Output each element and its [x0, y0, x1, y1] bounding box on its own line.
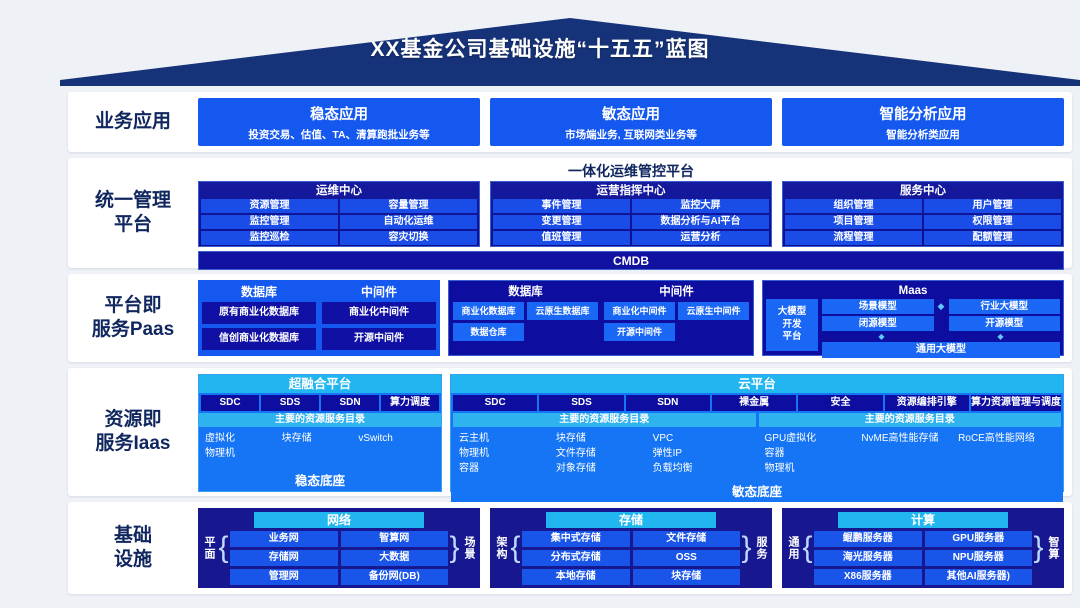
paas-cn-grid: 商业化数据库 云原生数据库 数据仓库 [453, 302, 598, 341]
tech-sds[interactable]: SDS [261, 395, 319, 411]
hyperconverged-platform-title: 超融合平台 [199, 375, 441, 393]
paas-cn-middleware-column: 中间件 商业化中间件 云原生中间件 开源中间件 [604, 285, 749, 351]
paas-item[interactable]: 开源中间件 [604, 323, 675, 341]
blueprint-diagram: XX基金公司基础设施“十五五”蓝图 业务应用 稳态应用 投资交易、估值、TA、清… [0, 0, 1080, 608]
infra-left-label: 通用 [785, 536, 801, 560]
center-operations-command[interactable]: 运营指挥中心 事件管理 监控大屏 变更管理 数据分析与AI平台 值班管理 运营分… [490, 181, 772, 247]
arrow-up-icon: ◆ [941, 333, 1060, 340]
maas-model-dev-platform[interactable]: 大模型 开发 平台 [766, 299, 818, 351]
infra-item[interactable]: 智算网 [341, 531, 449, 547]
center-item[interactable]: 流程管理 [785, 231, 922, 245]
agile-foundation-footer: 敏态底座 [451, 482, 1063, 502]
row-body-paas: 数据库 原有商业化数据库 信创商业化数据库 中间件 商业化中间件 开源中间件 数… [198, 274, 1072, 362]
paas-item[interactable]: 商业化中间件 [322, 302, 436, 324]
cloud-catalog-panes: 主要的资源服务目录 云主机 物理机 容器 块存储 文件存储 [451, 413, 1063, 482]
infra-card-network: 平面 { 网络 业务网 智算网 存储网 大数据 管理网 备份网(DB) [198, 508, 480, 588]
infra-item[interactable]: X86服务器 [814, 569, 922, 585]
paas-cn-database-column: 数据库 商业化数据库 云原生数据库 数据仓库 [453, 285, 598, 351]
paas-cloudnative-block: 数据库 商业化数据库 云原生数据库 数据仓库 中间件 商业化中间件 云原生中间件 [448, 280, 754, 356]
maas-item-industry-model[interactable]: 行业大模型 [949, 299, 1061, 314]
application-card-strip: 稳态应用 投资交易、估值、TA、清算跑批业务等 敏态应用 市场端业务, 互联网类… [198, 98, 1064, 146]
management-centers: 运维中心 资源管理 容量管理 监控管理 自动化运维 监控巡检 容灾切换 运营指挥… [198, 181, 1064, 247]
catalog-column: RoCE高性能网络 [958, 431, 1055, 476]
infra-item[interactable]: NPU服务器 [925, 550, 1033, 566]
maas-item-scenario-model[interactable]: 场景模型 [822, 299, 934, 314]
catalog-column: 虚拟化 物理机 [205, 431, 282, 467]
infra-item-grid: 鲲鹏服务器 GPU服务器 海光服务器 NPU服务器 X86服务器 其他AI服务器… [814, 531, 1032, 585]
paas-middleware-column: 中间件 商业化中间件 开源中间件 [322, 284, 436, 352]
infra-item[interactable]: 备份网(DB) [341, 569, 449, 585]
row-body-unified-management-platform: 一体化运维管控平台 运维中心 资源管理 容量管理 监控管理 自动化运维 监控巡检… [198, 158, 1072, 268]
paas-database-column: 数据库 原有商业化数据库 信创商业化数据库 [202, 284, 316, 352]
center-item[interactable]: 资源管理 [201, 199, 338, 213]
cloud-catalog-left: 主要的资源服务目录 云主机 物理机 容器 块存储 文件存储 [453, 413, 756, 480]
infra-item[interactable]: 本地存储 [522, 569, 630, 585]
tech-sds[interactable]: SDS [539, 395, 623, 411]
paas-traditional-block: 数据库 原有商业化数据库 信创商业化数据库 中间件 商业化中间件 开源中间件 [198, 280, 440, 356]
resource-catalog-body: 虚拟化 物理机 块存储 vSwitch [199, 427, 441, 471]
tech-compute-scheduling[interactable]: 算力调度 [381, 395, 439, 411]
infra-item[interactable]: 海光服务器 [814, 550, 922, 566]
infra-item-grid: 业务网 智算网 存储网 大数据 管理网 备份网(DB) [230, 531, 448, 585]
center-item[interactable]: 容灾切换 [340, 231, 477, 245]
tech-compute-resource-mgmt[interactable]: 算力资源管理与调度 [971, 395, 1061, 411]
app-card-subtitle: 智能分析类应用 [886, 127, 960, 142]
row-label-paas: 平台即 服务Paas [68, 294, 198, 342]
infra-item[interactable]: 块存储 [633, 569, 741, 585]
resource-catalog-header: 主要的资源服务目录 [199, 413, 441, 427]
cmdb-bar[interactable]: CMDB [198, 251, 1064, 270]
catalog-column: GPU虚拟化 容器 物理机 [765, 431, 862, 476]
cloud-platform-title: 云平台 [451, 375, 1063, 393]
center-item[interactable]: 用户管理 [924, 199, 1061, 213]
integrated-ops-platform-title: 一体化运维管控平台 [198, 164, 1064, 181]
catalog-column: NvME高性能存储 [861, 431, 958, 476]
infra-item[interactable]: 大数据 [341, 550, 449, 566]
hyperconverged-tech-row: SDC SDS SDN 算力调度 [199, 393, 441, 413]
cloud-tech-row: SDC SDS SDN 裸金属 安全 资源编排引擎 算力资源管理与调度 [451, 393, 1063, 413]
brace-left-icon: { [509, 533, 522, 563]
infra-item[interactable]: 鲲鹏服务器 [814, 531, 922, 547]
infra-item[interactable]: 文件存储 [633, 531, 741, 547]
app-card-subtitle: 投资交易、估值、TA、清算跑批业务等 [248, 127, 429, 142]
maas-row-scenario: 场景模型 ◆ 行业大模型 [822, 299, 1060, 314]
paas-column-title: 数据库 [453, 285, 598, 302]
catalog-item: 容器 [459, 461, 556, 476]
center-item[interactable]: 数据分析与AI平台 [632, 215, 769, 229]
iaas-hyperconverged-block: 超融合平台 SDC SDS SDN 算力调度 主要的资源服务目录 虚拟化 物理机 [198, 374, 442, 492]
catalog-item: 虚拟化 [205, 431, 282, 446]
maas-body: 大模型 开发 平台 场景模型 ◆ 行业大模型 闭源模型 开源模型 [766, 299, 1060, 351]
maas-item-general-model[interactable]: 通用大模型 [822, 342, 1060, 358]
center-ops[interactable]: 运维中心 资源管理 容量管理 监控管理 自动化运维 监控巡检 容灾切换 [198, 181, 480, 247]
infra-card-storage: 架构 { 存储 集中式存储 文件存储 分布式存储 OSS 本地存储 块存储 [490, 508, 772, 588]
center-title: 服务中心 [785, 184, 1061, 199]
infra-right-label: 场景 [461, 536, 477, 560]
catalog-item: NvME高性能存储 [861, 431, 958, 446]
row-label-infrastructure: 基础 设施 [68, 524, 198, 572]
infra-compute-content: 计算 鲲鹏服务器 GPU服务器 海光服务器 NPU服务器 X86服务器 其他AI… [814, 512, 1032, 585]
infra-item[interactable]: 分布式存储 [522, 550, 630, 566]
infra-storage-content: 存储 集中式存储 文件存储 分布式存储 OSS 本地存储 块存储 [522, 512, 740, 585]
paas-item[interactable]: 商业化数据库 [453, 302, 524, 320]
catalog-item: 块存储 [282, 431, 359, 446]
paas-item[interactable]: 数据仓库 [453, 323, 524, 341]
page-title: XX基金公司基础设施“十五五”蓝图 [0, 33, 1080, 63]
app-card-title: 智能分析应用 [880, 103, 967, 124]
row-platform-as-a-service: 平台即 服务Paas 数据库 原有商业化数据库 信创商业化数据库 中间件 商业化… [68, 274, 1072, 362]
infra-item[interactable]: 集中式存储 [522, 531, 630, 547]
tech-sdc[interactable]: SDC [201, 395, 259, 411]
infra-item[interactable]: 存储网 [230, 550, 338, 566]
row-unified-management-platform: 统一管理 平台 一体化运维管控平台 运维中心 资源管理 容量管理 监控管理 自动… [68, 158, 1072, 268]
brace-right-icon: } [448, 533, 461, 563]
catalog-item: 文件存储 [556, 446, 653, 461]
arrow-right-icon: ◆ [937, 299, 946, 314]
catalog-item: 物理机 [459, 446, 556, 461]
paas-item[interactable]: 商业化中间件 [604, 302, 675, 320]
brace-left-icon: { [801, 533, 814, 563]
paas-item-empty [678, 323, 749, 341]
maas-arrow-row: ◆ ◆ [822, 333, 1060, 340]
infra-left-label: 平面 [201, 536, 217, 560]
app-card-intelligent-analysis[interactable]: 智能分析应用 智能分析类应用 [782, 98, 1064, 146]
catalog-item: 块存储 [556, 431, 653, 446]
center-item-grid: 资源管理 容量管理 监控管理 自动化运维 监控巡检 容灾切换 [201, 199, 477, 245]
infra-title: 存储 [546, 512, 716, 528]
catalog-column: vSwitch [358, 431, 435, 467]
tech-orchestration-engine[interactable]: 资源编排引擎 [885, 395, 969, 411]
center-item[interactable]: 变更管理 [493, 215, 630, 229]
paas-item[interactable]: 云原生数据库 [527, 302, 598, 320]
infra-right-label: 智算 [1045, 536, 1061, 560]
paas-column-title: 数据库 [202, 284, 316, 302]
row-body-infrastructure: 平面 { 网络 业务网 智算网 存储网 大数据 管理网 备份网(DB) [198, 502, 1072, 594]
iaas-strip: 超融合平台 SDC SDS SDN 算力调度 主要的资源服务目录 虚拟化 物理机 [198, 374, 1064, 492]
stable-foundation-footer: 稳态底座 [199, 471, 441, 491]
cloud-catalog-right: 主要的资源服务目录 GPU虚拟化 容器 物理机 NvME高性能存储 [759, 413, 1062, 480]
row-label-business-application: 业务应用 [68, 110, 198, 134]
row-infrastructure: 基础 设施 平面 { 网络 业务网 智算网 存储网 大数据 管理网 备份网( [68, 502, 1072, 594]
center-item[interactable]: 权限管理 [924, 215, 1061, 229]
paas-column-title: 中间件 [322, 284, 436, 302]
catalog-item: 物理机 [205, 446, 282, 461]
catalog-item: RoCE高性能网络 [958, 431, 1055, 446]
paas-item[interactable]: 原有商业化数据库 [202, 302, 316, 324]
center-item-grid: 事件管理 监控大屏 变更管理 数据分析与AI平台 值班管理 运营分析 [493, 199, 769, 245]
paas-item[interactable]: 信创商业化数据库 [202, 328, 316, 350]
brace-left-icon: { [217, 533, 230, 563]
tech-sdc[interactable]: SDC [453, 395, 537, 411]
catalog-item: 弹性IP [653, 446, 750, 461]
app-card-agile[interactable]: 敏态应用 市场端业务, 互联网类业务等 [490, 98, 772, 146]
brace-right-icon: } [740, 533, 753, 563]
infra-title: 计算 [838, 512, 1008, 528]
center-item[interactable]: 监控大屏 [632, 199, 769, 213]
catalog-item: 云主机 [459, 431, 556, 446]
arrow-up-icon: ◆ [822, 333, 941, 340]
tech-bare-metal[interactable]: 裸金属 [712, 395, 796, 411]
center-item[interactable]: 组织管理 [785, 199, 922, 213]
catalog-column: VPC 弹性IP 负载均衡 [653, 431, 750, 476]
catalog-column: 块存储 [282, 431, 359, 467]
tech-sdn[interactable]: SDN [626, 395, 710, 411]
infra-right-label: 服务 [753, 536, 769, 560]
resource-catalog-body: 云主机 物理机 容器 块存储 文件存储 对象存储 [453, 427, 756, 480]
center-item-grid: 组织管理 用户管理 项目管理 权限管理 流程管理 配额管理 [785, 199, 1061, 245]
row-label-iaas: 资源即 服务Iaas [68, 408, 198, 456]
center-item[interactable]: 监控管理 [201, 215, 338, 229]
resource-catalog-header: 主要的资源服务目录 [453, 413, 756, 427]
catalog-item: 容器 [765, 446, 862, 461]
center-item[interactable]: 值班管理 [493, 231, 630, 245]
catalog-item: 物理机 [765, 461, 862, 476]
catalog-item: GPU虚拟化 [765, 431, 862, 446]
maas-row-source: 闭源模型 开源模型 [822, 316, 1060, 331]
center-title: 运营指挥中心 [493, 184, 769, 199]
infra-item[interactable]: GPU服务器 [925, 531, 1033, 547]
center-item[interactable]: 监控巡检 [201, 231, 338, 245]
app-card-title: 敏态应用 [602, 103, 660, 124]
row-body-iaas: 超融合平台 SDC SDS SDN 算力调度 主要的资源服务目录 虚拟化 物理机 [198, 368, 1072, 496]
infra-item[interactable]: 管理网 [230, 569, 338, 585]
row-body-business-application: 稳态应用 投资交易、估值、TA、清算跑批业务等 敏态应用 市场端业务, 互联网类… [198, 92, 1072, 152]
catalog-item: 负载均衡 [653, 461, 750, 476]
catalog-column: 块存储 文件存储 对象存储 [556, 431, 653, 476]
tech-sdn[interactable]: SDN [321, 395, 379, 411]
resource-catalog-header: 主要的资源服务目录 [759, 413, 1062, 427]
catalog-item: VPC [653, 431, 750, 446]
iaas-cloud-platform-block: 云平台 SDC SDS SDN 裸金属 安全 资源编排引擎 算力资源管理与调度 … [450, 374, 1064, 492]
maas-item-open-source[interactable]: 开源模型 [949, 316, 1061, 331]
center-item[interactable]: 事件管理 [493, 199, 630, 213]
maas-title: Maas [766, 284, 1060, 299]
infra-left-label: 架构 [493, 536, 509, 560]
infra-item-grid: 集中式存储 文件存储 分布式存储 OSS 本地存储 块存储 [522, 531, 740, 585]
center-item[interactable]: 容量管理 [340, 199, 477, 213]
paas-item[interactable]: 开源中间件 [322, 328, 436, 350]
app-card-title: 稳态应用 [310, 103, 368, 124]
paas-strip: 数据库 原有商业化数据库 信创商业化数据库 中间件 商业化中间件 开源中间件 数… [198, 280, 1064, 356]
paas-column-title: 中间件 [604, 285, 749, 302]
maas-item-closed-source[interactable]: 闭源模型 [822, 316, 934, 331]
infra-item[interactable]: 其他AI服务器) [925, 569, 1033, 585]
infra-network-content: 网络 业务网 智算网 存储网 大数据 管理网 备份网(DB) [230, 512, 448, 585]
catalog-item: vSwitch [358, 431, 435, 446]
paas-maas-block: Maas 大模型 开发 平台 场景模型 ◆ 行业大模型 闭源模型 [762, 280, 1064, 356]
maas-model-stack: 场景模型 ◆ 行业大模型 闭源模型 开源模型 ◆ ◆ [822, 299, 1060, 351]
row-business-application: 业务应用 稳态应用 投资交易、估值、TA、清算跑批业务等 敏态应用 市场端业务,… [68, 92, 1072, 152]
catalog-item: 对象存储 [556, 461, 653, 476]
center-item[interactable]: 自动化运维 [340, 215, 477, 229]
center-item[interactable]: 运营分析 [632, 231, 769, 245]
brace-right-icon: } [1032, 533, 1045, 563]
paas-item[interactable]: 云原生中间件 [678, 302, 749, 320]
infra-card-compute: 通用 { 计算 鲲鹏服务器 GPU服务器 海光服务器 NPU服务器 X86服务器… [782, 508, 1064, 588]
center-item[interactable]: 项目管理 [785, 215, 922, 229]
app-card-stable[interactable]: 稳态应用 投资交易、估值、TA、清算跑批业务等 [198, 98, 480, 146]
app-card-subtitle: 市场端业务, 互联网类业务等 [565, 127, 697, 142]
paas-cn-grid: 商业化中间件 云原生中间件 开源中间件 [604, 302, 749, 341]
infra-item[interactable]: OSS [633, 550, 741, 566]
catalog-column: 云主机 物理机 容器 [459, 431, 556, 476]
tech-security[interactable]: 安全 [798, 395, 882, 411]
center-service[interactable]: 服务中心 组织管理 用户管理 项目管理 权限管理 流程管理 配额管理 [782, 181, 1064, 247]
infra-title: 网络 [254, 512, 424, 528]
center-item[interactable]: 配额管理 [924, 231, 1061, 245]
paas-item-empty [527, 323, 598, 341]
row-label-unified-management-platform: 统一管理 平台 [68, 189, 198, 237]
infrastructure-strip: 平面 { 网络 业务网 智算网 存储网 大数据 管理网 备份网(DB) [198, 508, 1064, 588]
resource-catalog-body: GPU虚拟化 容器 物理机 NvME高性能存储 RoCE高性能网络 [759, 427, 1062, 480]
center-title: 运维中心 [201, 184, 477, 199]
infra-item[interactable]: 业务网 [230, 531, 338, 547]
row-infrastructure-as-a-service: 资源即 服务Iaas 超融合平台 SDC SDS SDN 算力调度 主要的资源服… [68, 368, 1072, 496]
